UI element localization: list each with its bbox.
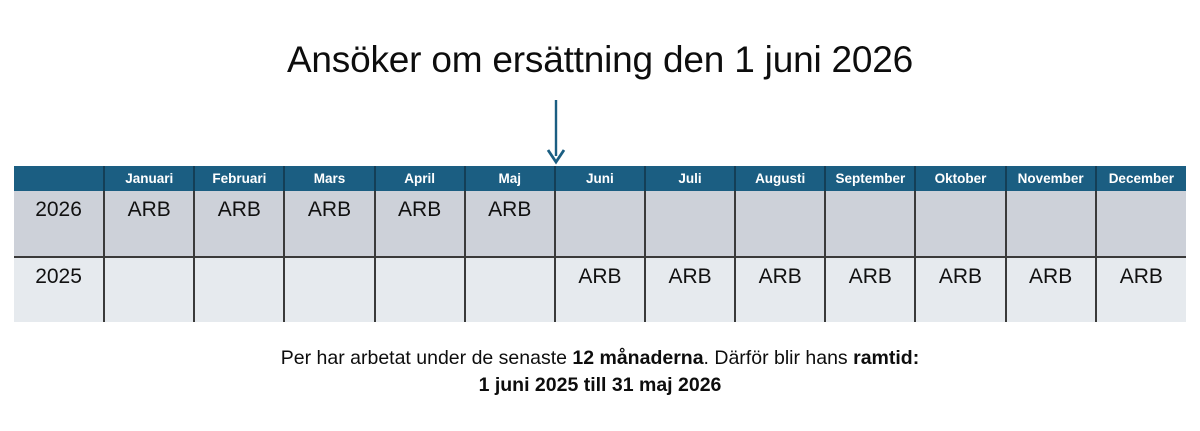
down-arrow-icon [540, 100, 572, 166]
cell-2025-januari [104, 257, 194, 322]
column-header-december: December [1096, 166, 1186, 191]
column-header-april: April [375, 166, 465, 191]
table-row-2025: 2025 ARB ARB ARB ARB ARB ARB ARB [14, 257, 1186, 322]
cell-2025-mars [284, 257, 374, 322]
cell-2025-september: ARB [825, 257, 915, 322]
row-label-2025: 2025 [14, 257, 104, 322]
caption-bold-12-manaderna: 12 månaderna [572, 347, 703, 369]
cell-2026-januari: ARB [104, 191, 194, 257]
caption-bold-ramtid: ramtid: [853, 347, 919, 369]
framework-period-table: Januari Februari Mars April Maj Juni Jul… [14, 166, 1186, 322]
cell-2026-augusti [735, 191, 825, 257]
table-header: Januari Februari Mars April Maj Juni Jul… [14, 166, 1186, 191]
caption: Per har arbetat under de senaste 12 måna… [0, 345, 1200, 399]
caption-line2: 1 juni 2025 till 31 maj 2026 [0, 372, 1200, 399]
cell-2026-juni [555, 191, 645, 257]
cell-2025-maj [465, 257, 555, 322]
cell-2026-april: ARB [375, 191, 465, 257]
cell-2025-augusti: ARB [735, 257, 825, 322]
caption-line1-part1: Per har arbetat under de senaste [281, 347, 573, 369]
column-header-maj: Maj [465, 166, 555, 191]
cell-2025-oktober: ARB [915, 257, 1005, 322]
table-corner-cell [14, 166, 104, 191]
column-header-februari: Februari [194, 166, 284, 191]
cell-2026-oktober [915, 191, 1005, 257]
table-body: 2026 ARB ARB ARB ARB ARB 2025 ARB ARB AR… [14, 191, 1186, 322]
column-header-oktober: Oktober [915, 166, 1005, 191]
cell-2026-februari: ARB [194, 191, 284, 257]
column-header-september: September [825, 166, 915, 191]
page-title: Ansöker om ersättning den 1 juni 2026 [0, 38, 1200, 82]
cell-2026-november [1006, 191, 1096, 257]
cell-2026-mars: ARB [284, 191, 374, 257]
cell-2025-juli: ARB [645, 257, 735, 322]
cell-2025-november: ARB [1006, 257, 1096, 322]
cell-2026-december [1096, 191, 1186, 257]
cell-2026-maj: ARB [465, 191, 555, 257]
column-header-januari: Januari [104, 166, 194, 191]
cell-2025-april [375, 257, 465, 322]
cell-2026-september [825, 191, 915, 257]
column-header-november: November [1006, 166, 1096, 191]
column-header-juni: Juni [555, 166, 645, 191]
table-row-2026: 2026 ARB ARB ARB ARB ARB [14, 191, 1186, 257]
cell-2025-december: ARB [1096, 257, 1186, 322]
cell-2025-februari [194, 257, 284, 322]
caption-line1-part2: . Därför blir hans [704, 347, 854, 369]
column-header-juli: Juli [645, 166, 735, 191]
row-label-2026: 2026 [14, 191, 104, 257]
caption-line1: Per har arbetat under de senaste 12 måna… [281, 347, 919, 369]
column-header-augusti: Augusti [735, 166, 825, 191]
cell-2026-juli [645, 191, 735, 257]
header-row: Januari Februari Mars April Maj Juni Jul… [14, 166, 1186, 191]
cell-2025-juni: ARB [555, 257, 645, 322]
column-header-mars: Mars [284, 166, 374, 191]
